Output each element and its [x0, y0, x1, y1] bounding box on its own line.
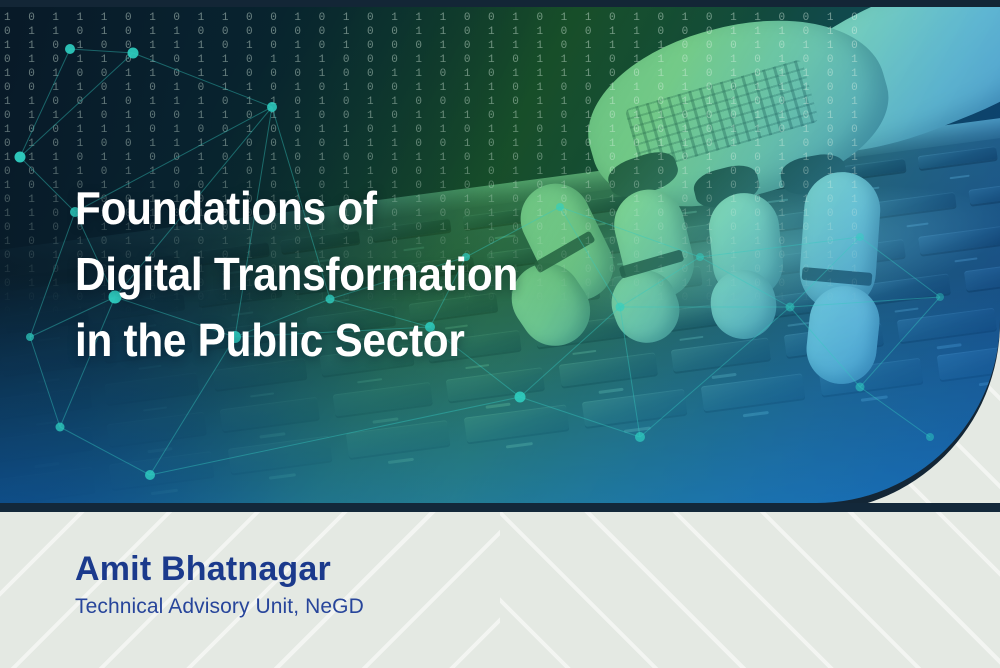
hero-top-edge [0, 0, 1000, 7]
slide-title: Foundations of Digital Transformation in… [75, 175, 518, 373]
title-line-1: Foundations of [75, 175, 518, 241]
hero-bottom-edge [0, 503, 1000, 512]
presentation-slide: 1 0 1 1 1 0 1 0 1 1 0 0 1 0 1 0 1 1 1 0 … [0, 0, 1000, 668]
title-line-3: in the Public Sector [75, 307, 518, 373]
presenter-name: Amit Bhatnagar [75, 548, 364, 590]
presenter-role: Technical Advisory Unit, NeGD [75, 592, 364, 622]
hero-image-panel: 1 0 1 1 1 0 1 0 1 1 0 0 1 0 1 0 1 1 1 0 … [0, 0, 1000, 512]
hero-image: 1 0 1 1 1 0 1 0 1 1 0 0 1 0 1 0 1 1 1 0 … [0, 7, 1000, 503]
presenter-block: Amit Bhatnagar Technical Advisory Unit, … [75, 548, 364, 622]
title-line-2: Digital Transformation [75, 241, 518, 307]
